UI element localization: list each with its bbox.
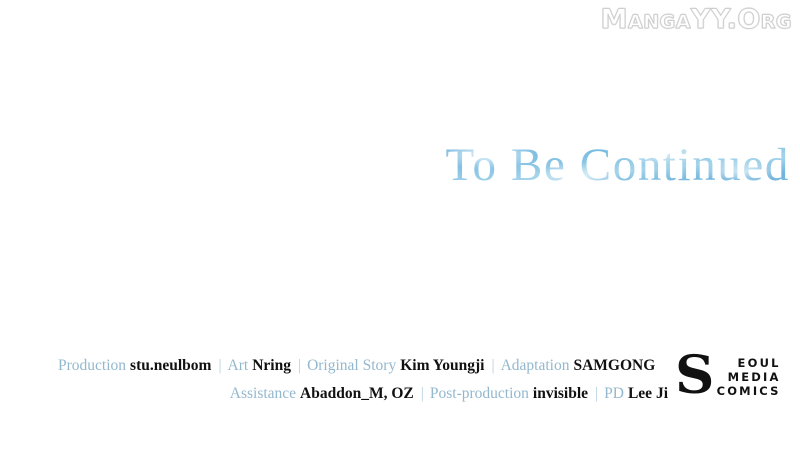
logo-word-comics: COMICS	[717, 384, 781, 398]
credit-entry: ArtNring	[228, 357, 291, 374]
credits-line-1: Productionstu.neulbom|ArtNring|Original …	[58, 352, 668, 380]
credits-block: Productionstu.neulbom|ArtNring|Original …	[58, 352, 668, 408]
logo-initial-s: S	[675, 354, 714, 398]
credit-entry: AssistanceAbaddon_M, OZ	[230, 385, 414, 402]
logo-wordmark: EOUL MEDIA COMICS	[717, 356, 781, 398]
publisher-logo: S EOUL MEDIA COMICS	[676, 351, 788, 403]
logo-word-seoul: EOUL	[738, 356, 781, 370]
credit-person-name: invisible	[533, 385, 588, 402]
credit-separator: |	[595, 385, 598, 402]
credit-role-label: Assistance	[230, 385, 296, 402]
credit-entry: Post-productioninvisible	[430, 385, 588, 402]
credit-person-name: Abaddon_M, OZ	[300, 385, 414, 402]
credits-line-2: AssistanceAbaddon_M, OZ|Post-productioni…	[58, 380, 668, 408]
site-watermark: MangaYY.Org	[601, 4, 792, 35]
credit-role-label: Art	[228, 357, 249, 374]
credit-entry: AdaptationSAMGONG	[501, 357, 656, 374]
credit-role-label: Adaptation	[501, 357, 570, 374]
credit-person-name: Nring	[252, 357, 291, 374]
credit-separator: |	[298, 357, 301, 374]
credit-entry: PDLee Ji	[604, 385, 668, 402]
credit-entry: Original StoryKim Youngji	[307, 357, 484, 374]
credit-separator: |	[491, 357, 494, 374]
credit-role-label: Production	[58, 357, 126, 374]
title-container: To Be Continued	[0, 138, 790, 192]
credit-person-name: Kim Youngji	[400, 357, 484, 374]
credit-entry: Productionstu.neulbom	[58, 357, 211, 374]
credit-person-name: Lee Ji	[628, 385, 668, 402]
credit-role-label: PD	[604, 385, 624, 402]
logo-word-media: MEDIA	[728, 370, 781, 384]
credit-person-name: SAMGONG	[573, 357, 655, 374]
page-title: To Be Continued	[446, 138, 790, 192]
credit-person-name: stu.neulbom	[130, 357, 211, 374]
credit-role-label: Post-production	[430, 385, 529, 402]
credit-separator: |	[218, 357, 221, 374]
credit-role-label: Original Story	[307, 357, 396, 374]
credit-separator: |	[421, 385, 424, 402]
